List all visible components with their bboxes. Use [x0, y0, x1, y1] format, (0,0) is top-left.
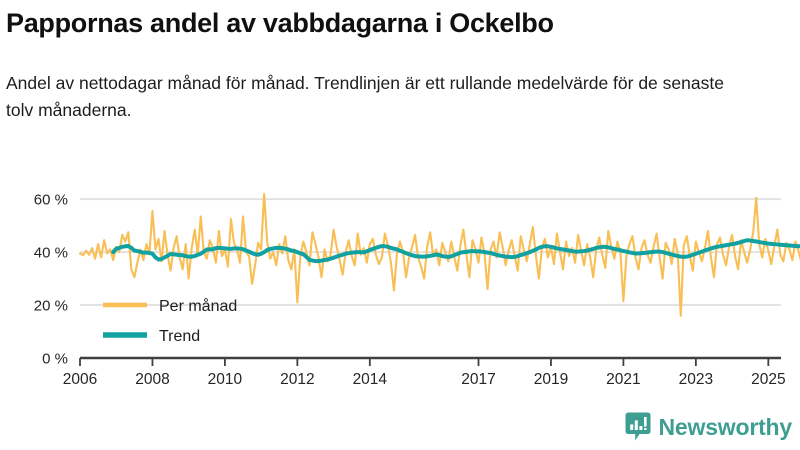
brand-name: Newsworthy: [659, 414, 792, 440]
x-tick-label: 2021: [606, 371, 640, 388]
chart-container: Pappornas andel av vabbdagarna i Ockelbo…: [0, 0, 800, 450]
x-tick-label: 2023: [679, 371, 713, 388]
legend-label[interactable]: Trend: [159, 328, 200, 345]
x-axis: [80, 358, 781, 366]
y-tick-label: 60 %: [34, 192, 68, 209]
x-tick-label: 2014: [353, 371, 388, 388]
legend-label[interactable]: Per månad: [159, 297, 237, 315]
y-tick-label: 0 %: [42, 351, 68, 368]
bar-chart-bubble-icon: [625, 412, 651, 442]
x-axis-tick-labels: 2006200820102012201420172019202120232025: [63, 371, 786, 388]
x-tick-label: 2019: [534, 371, 568, 388]
y-axis-tick-labels: 0 %20 %40 %60 %: [34, 192, 68, 368]
x-tick-label: 2017: [461, 371, 495, 388]
x-tick-label: 2010: [208, 371, 243, 388]
chart-legend: Per månadTrend: [103, 297, 237, 345]
x-tick-label: 2012: [280, 371, 314, 388]
newsworthy-logo[interactable]: Newsworthy: [625, 412, 792, 442]
x-tick-label: 2025: [751, 371, 785, 388]
chart-plot: 0 %20 %40 %60 % 200620082010201220142017…: [0, 0, 800, 400]
x-tick-label: 2006: [63, 371, 97, 388]
y-tick-label: 20 %: [34, 298, 68, 315]
y-tick-label: 40 %: [34, 245, 68, 262]
x-tick-label: 2008: [135, 371, 169, 388]
